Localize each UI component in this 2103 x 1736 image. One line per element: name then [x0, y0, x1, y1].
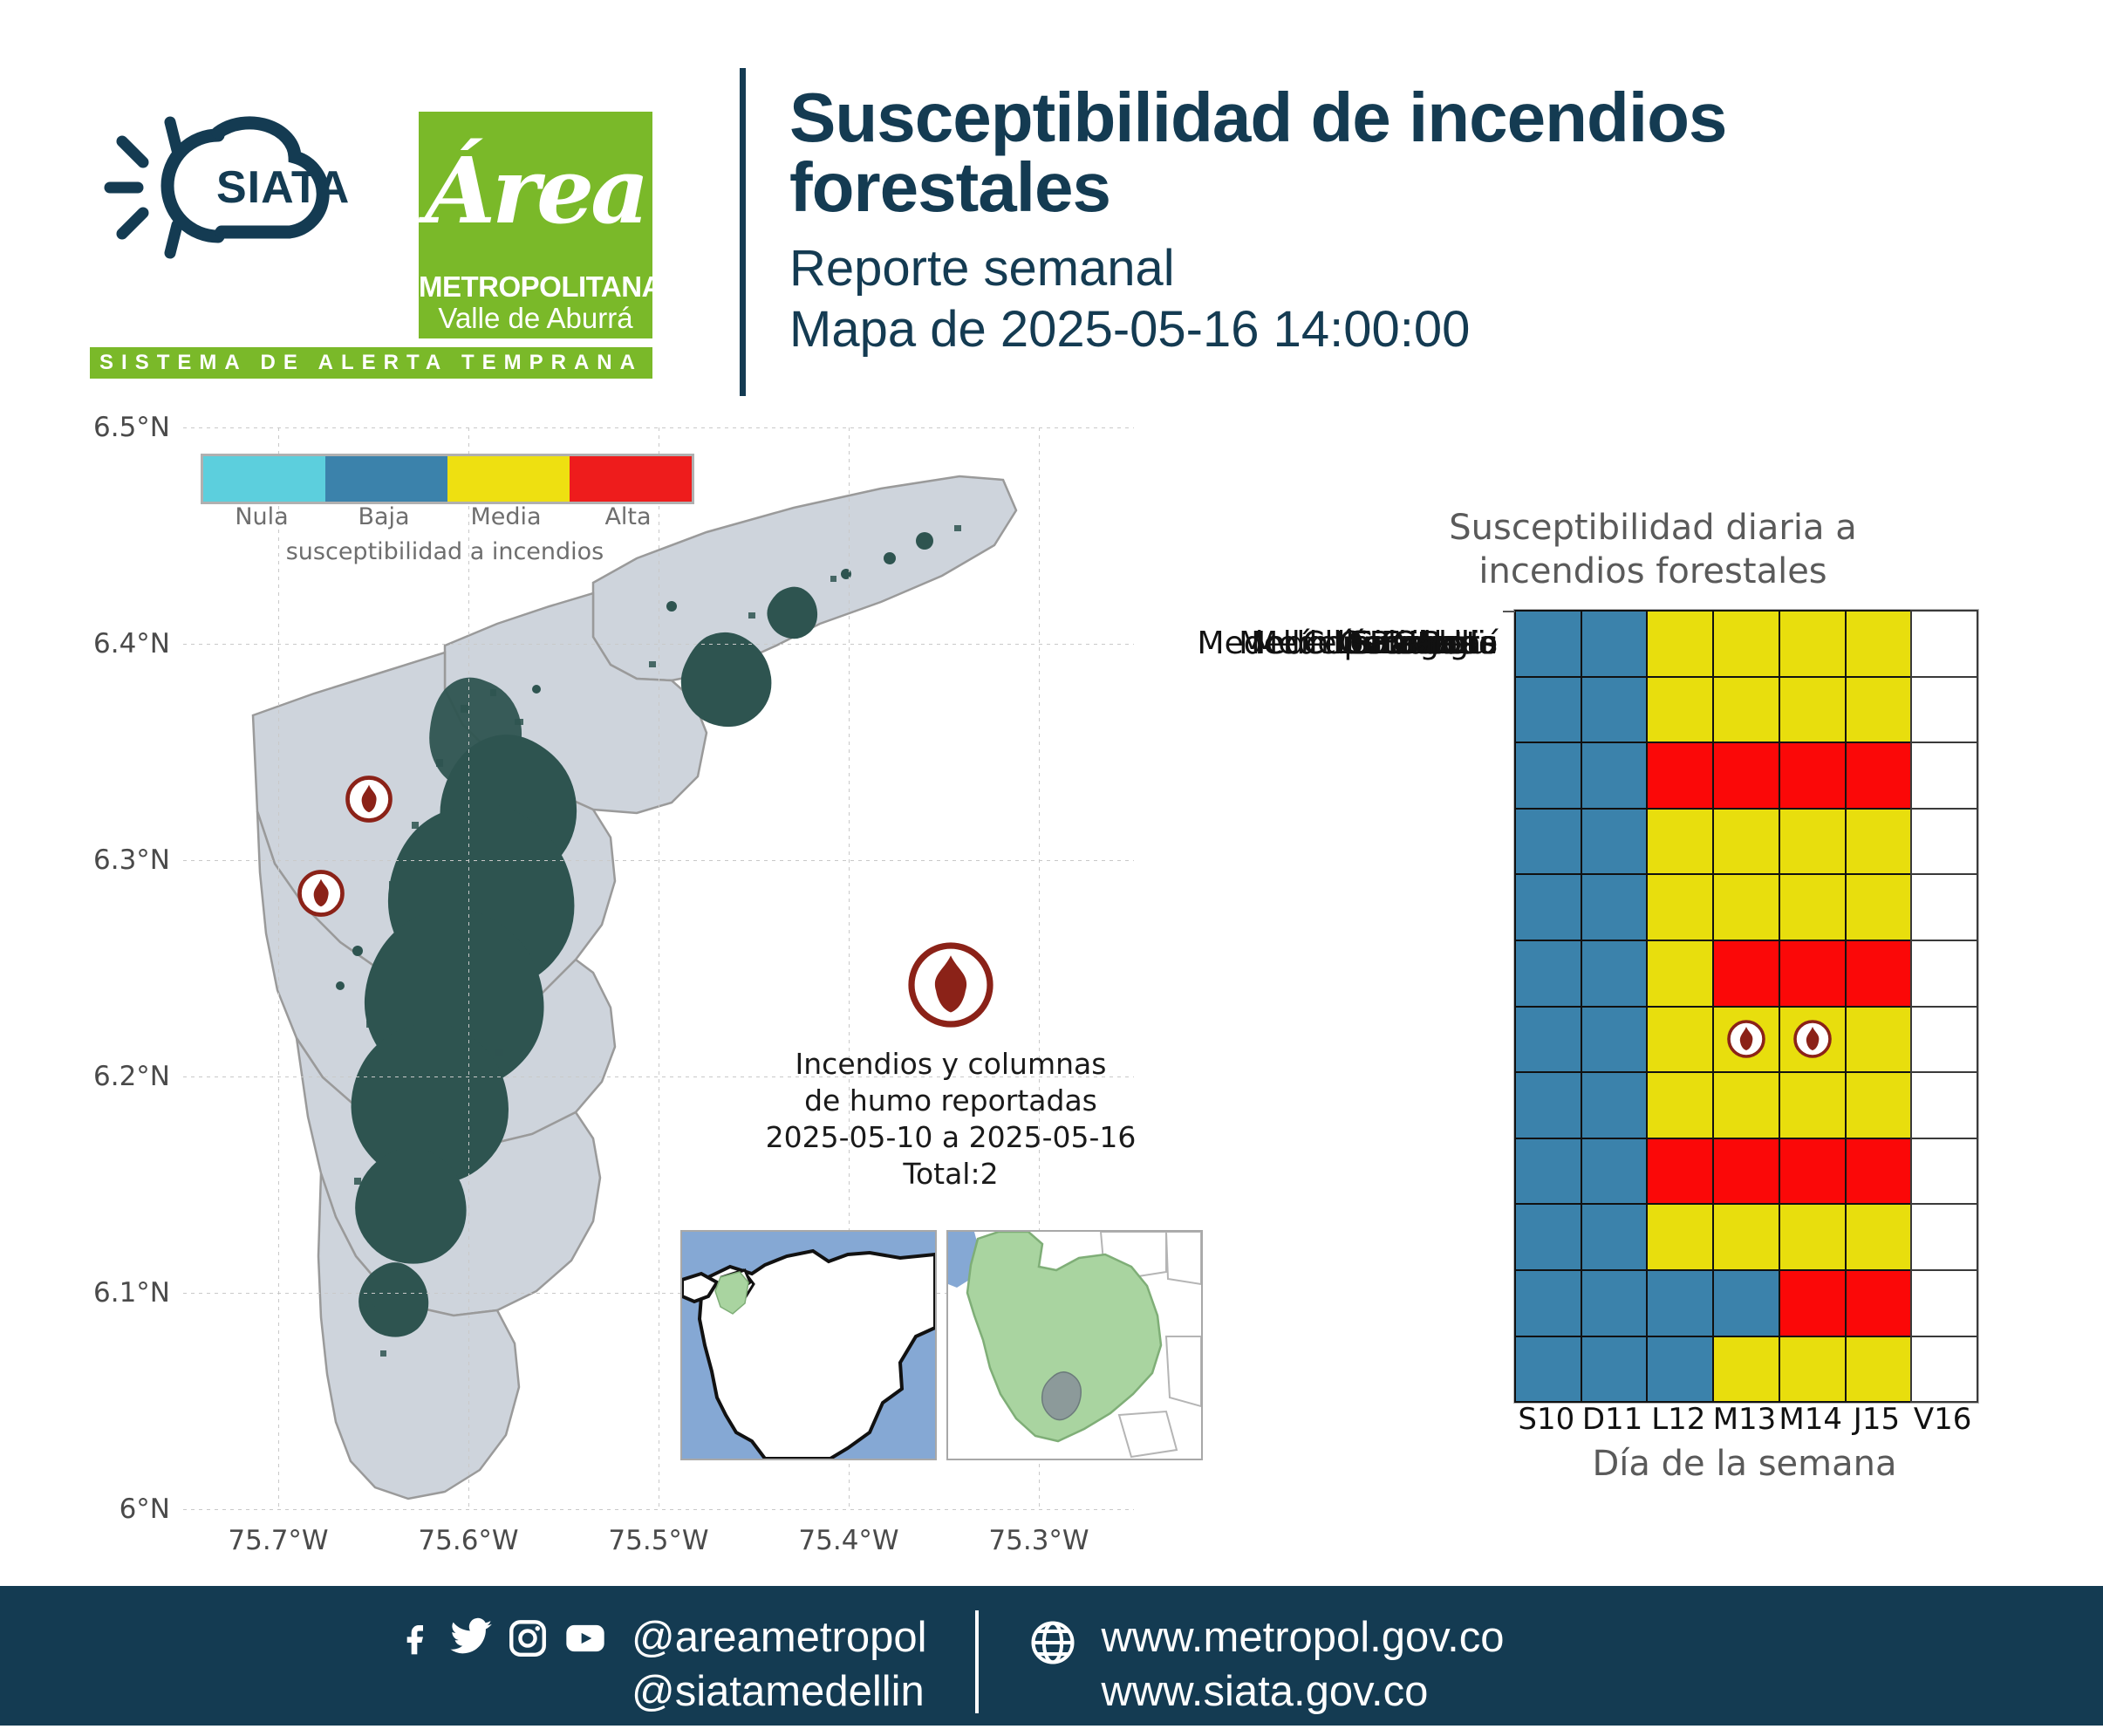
- colorbar-label-alta: Alta: [567, 503, 689, 530]
- map-y-tick-label: 6.4°N: [93, 628, 170, 660]
- heatmap-grid: BarbosaGirardotaCopacabanaBelloMedellín …: [1513, 609, 1979, 1404]
- area-metropolitana-logo: Área METROPOLITANA Valle de Aburrá: [419, 112, 652, 338]
- handle-areametropol: @areametropol: [632, 1610, 926, 1664]
- heatmap-cell[interactable]: [1845, 1071, 1913, 1139]
- heatmap-cell[interactable]: [1845, 1006, 1913, 1074]
- report-subtitle: Reporte semanal: [789, 238, 2054, 299]
- heatmap-cell[interactable]: [1514, 1138, 1582, 1206]
- siata-logo: SIATA: [87, 105, 384, 270]
- heatmap-row: Girardota: [1515, 677, 1977, 743]
- map-y-tick-label: 6.2°N: [93, 1061, 170, 1092]
- map-y-tick-label: 6°N: [119, 1493, 170, 1525]
- heatmap-cell[interactable]: [1581, 873, 1649, 941]
- infographic-root: SIATA Área METROPOLITANA Valle de Aburrá…: [0, 0, 2103, 1736]
- heatmap-cell[interactable]: [1910, 940, 1978, 1008]
- heatmap-cell[interactable]: [1779, 1269, 1847, 1337]
- heatmap-row: Itagüí: [1515, 1072, 1977, 1138]
- area-logo-script: Área: [419, 117, 652, 265]
- heatmap-cell[interactable]: [1581, 610, 1649, 678]
- heatmap-cell[interactable]: [1910, 808, 1978, 876]
- heatmap-cell[interactable]: [1514, 1006, 1582, 1074]
- heatmap-cell[interactable]: [1581, 1269, 1649, 1337]
- heatmap-cell[interactable]: [1910, 1006, 1978, 1074]
- heatmap-cell[interactable]: [1712, 1203, 1780, 1271]
- heatmap-y-tick: [1503, 611, 1515, 612]
- heatmap-row: Envigado: [1515, 1138, 1977, 1205]
- heatmap-cell[interactable]: [1581, 1006, 1649, 1074]
- page-title: Susceptibilidad de incendios forestales: [789, 83, 2054, 222]
- heatmap-x-tick-labels: S10D11L12M13M14J15V16: [1513, 1402, 1976, 1437]
- heatmap-cell[interactable]: [1845, 873, 1913, 941]
- heatmap-cell[interactable]: [1514, 610, 1582, 678]
- heatmap-cell[interactable]: [1779, 873, 1847, 941]
- heatmap-row: Medellín Occidente: [1515, 1007, 1977, 1073]
- heatmap-x-tick-label: M13: [1711, 1402, 1778, 1437]
- heatmap-cell[interactable]: [1712, 610, 1780, 678]
- heatmap-cell[interactable]: [1910, 873, 1978, 941]
- heatmap-cell[interactable]: [1779, 808, 1847, 876]
- fire-marker: [297, 869, 345, 921]
- heatmap-cell[interactable]: [1646, 742, 1714, 810]
- header: SIATA Área METROPOLITANA Valle de Aburrá…: [0, 0, 2103, 406]
- heatmap-cell[interactable]: [1646, 610, 1714, 678]
- heatmap-cell[interactable]: [1514, 1336, 1582, 1404]
- heatmap-cell[interactable]: [1514, 940, 1582, 1008]
- heatmap-row-label-caldas: Caldas: [1392, 611, 1515, 677]
- map-y-tick-label: 6.3°N: [93, 844, 170, 876]
- heatmap-cell[interactable]: [1581, 742, 1649, 810]
- heatmap-cell[interactable]: [1514, 1203, 1582, 1271]
- heatmap-cell[interactable]: [1646, 1269, 1714, 1337]
- map-gridline-vertical: [278, 427, 279, 1509]
- social-icons: [401, 1616, 609, 1664]
- colombia-inset-map: [680, 1230, 937, 1460]
- heatmap-cell[interactable]: [1910, 610, 1978, 678]
- heatmap-cell[interactable]: [1845, 940, 1913, 1008]
- fire-legend-total: Total:2: [724, 1156, 1178, 1193]
- heatmap-row: Caldas: [1515, 1336, 1977, 1403]
- title-block: Susceptibilidad de incendios forestales …: [789, 83, 2054, 360]
- map-x-tick-label: 75.5°W: [608, 1525, 708, 1556]
- heatmap-cell[interactable]: [1712, 1138, 1780, 1206]
- website-links: www.metropol.gov.co www.siata.gov.co: [1101, 1610, 1504, 1719]
- link-metropol[interactable]: www.metropol.gov.co: [1101, 1610, 1504, 1664]
- heatmap-cell[interactable]: [1712, 676, 1780, 744]
- map-y-tick-label: 6.5°N: [93, 412, 170, 443]
- heatmap-x-tick-label: L12: [1645, 1402, 1711, 1437]
- heatmap-cell[interactable]: [1581, 1138, 1649, 1206]
- heatmap-cell[interactable]: [1581, 808, 1649, 876]
- link-siata[interactable]: www.siata.gov.co: [1101, 1664, 1504, 1719]
- heatmap-cell[interactable]: [1646, 676, 1714, 744]
- header-divider: [740, 68, 746, 396]
- heatmap-cell[interactable]: [1910, 676, 1978, 744]
- heatmap-cell[interactable]: [1514, 676, 1582, 744]
- antioquia-inset-map: [946, 1230, 1203, 1460]
- heatmap-cell[interactable]: [1712, 808, 1780, 876]
- heatmap-cell[interactable]: [1712, 1269, 1780, 1337]
- heatmap-cell[interactable]: [1779, 742, 1847, 810]
- heatmap-cell[interactable]: [1581, 940, 1649, 1008]
- heatmap-cell[interactable]: [1779, 1203, 1847, 1271]
- map-panel: 6.5°N6.4°N6.3°N6.2°N6.1°N6°N75.7°W75.6°W…: [35, 406, 1212, 1583]
- heatmap-cell[interactable]: [1646, 940, 1714, 1008]
- fire-legend-line1: Incendios y columnas: [724, 1046, 1178, 1083]
- map-gridline-vertical: [659, 427, 659, 1509]
- globe-icon: [1028, 1617, 1078, 1671]
- heatmap-cell[interactable]: [1514, 873, 1582, 941]
- fire-legend-line3: 2025-05-10 a 2025-05-16: [724, 1119, 1178, 1156]
- heatmap-cell[interactable]: [1779, 676, 1847, 744]
- colorbar-segment-nula: [203, 456, 325, 502]
- heatmap-cell[interactable]: [1910, 1203, 1978, 1271]
- heatmap-cell[interactable]: [1845, 808, 1913, 876]
- heatmap-cell[interactable]: [1581, 1071, 1649, 1139]
- footer-bottom-strip: [0, 1726, 2103, 1736]
- heatmap-cell[interactable]: [1845, 1203, 1913, 1271]
- fire-icon-large: [904, 938, 998, 1032]
- heatmap-cell[interactable]: [1514, 742, 1582, 810]
- footer-divider: [975, 1610, 979, 1713]
- heatmap-cell[interactable]: [1845, 1138, 1913, 1206]
- heatmap-cell[interactable]: [1646, 1071, 1714, 1139]
- heatmap-cell[interactable]: [1646, 1203, 1714, 1271]
- map-x-tick-label: 75.4°W: [798, 1525, 898, 1556]
- map-x-tick-label: 75.6°W: [418, 1525, 518, 1556]
- fire-legend-line2: de humo reportadas: [724, 1083, 1178, 1119]
- heatmap-row: Copacabana: [1515, 742, 1977, 809]
- heatmap-cell[interactable]: [1581, 1336, 1649, 1404]
- map-x-tick-label: 75.7°W: [228, 1525, 328, 1556]
- heatmap-x-tick-label: D11: [1580, 1402, 1646, 1437]
- footer: @areametropol @siatamedellin www.metropo…: [0, 1586, 2103, 1736]
- heatmap-cell[interactable]: [1910, 1269, 1978, 1337]
- colorbar-label-baja: Baja: [323, 503, 445, 530]
- heatmap-cell[interactable]: [1779, 1138, 1847, 1206]
- heatmap-row: Medellín Centro: [1515, 874, 1977, 940]
- heatmap-cell[interactable]: [1845, 1269, 1913, 1337]
- instagram-icon[interactable]: [506, 1616, 550, 1664]
- heatmap-cell[interactable]: [1845, 676, 1913, 744]
- colorbar-segment-baja: [325, 456, 447, 502]
- map-timestamp: Mapa de 2025-05-16 14:00:00: [789, 299, 2054, 360]
- fire-marker: [345, 775, 393, 827]
- heatmap-title: Susceptibilidad diaria aincendios forest…: [1221, 506, 2085, 593]
- heatmap-cell[interactable]: [1712, 1006, 1780, 1074]
- heatmap-cell[interactable]: [1514, 808, 1582, 876]
- colorbar-caption: susceptibilidad a incendios: [201, 538, 689, 565]
- heatmap-row: Barbosa: [1515, 611, 1977, 677]
- heatmap-cell[interactable]: [1779, 610, 1847, 678]
- heatmap-cell[interactable]: [1581, 676, 1649, 744]
- heatmap-cell[interactable]: [1712, 742, 1780, 810]
- map-gridline-horizontal: [183, 1509, 1134, 1510]
- siata-logo-text: SIATA: [216, 162, 350, 213]
- heatmap-cell[interactable]: [1779, 1336, 1847, 1404]
- colorbar-tick-labels: NulaBajaMediaAlta: [201, 503, 689, 530]
- heatmap-row: Bello: [1515, 809, 1977, 875]
- area-logo-line1: METROPOLITANA: [419, 270, 652, 304]
- siata-tagline-text: SISTEMA DE ALERTA TEMPRANA: [90, 347, 652, 379]
- heatmap-cell[interactable]: [1646, 1138, 1714, 1206]
- area-logo-line2: Valle de Aburrá: [419, 302, 652, 335]
- colorbar-label-nula: Nula: [201, 503, 323, 530]
- heatmap-cell[interactable]: [1845, 742, 1913, 810]
- heatmap-cell[interactable]: [1845, 1336, 1913, 1404]
- map-x-tick-label: 75.3°W: [988, 1525, 1089, 1556]
- heatmap-x-tick-label: M14: [1778, 1402, 1844, 1437]
- heatmap-cell[interactable]: [1581, 1203, 1649, 1271]
- heatmap-cell[interactable]: [1910, 1071, 1978, 1139]
- heatmap-cell[interactable]: [1845, 610, 1913, 678]
- heatmap-row: Medellín Oriente: [1515, 940, 1977, 1007]
- susceptibility-colorbar: [201, 454, 694, 504]
- fire-report-legend: Incendios y columnas de humo reportadas …: [724, 938, 1178, 1193]
- heatmap-cell[interactable]: [1646, 1336, 1714, 1404]
- map-gridline-vertical: [468, 427, 469, 1509]
- heatmap-cell[interactable]: [1646, 873, 1714, 941]
- heatmap-cell[interactable]: [1712, 1071, 1780, 1139]
- heatmap-cell[interactable]: [1779, 1006, 1847, 1074]
- heatmap-x-tick-label: S10: [1513, 1402, 1580, 1437]
- fire-marker-icon: [1792, 1018, 1833, 1060]
- colorbar-segment-media: [447, 456, 570, 502]
- heatmap-x-tick-label: J15: [1844, 1402, 1910, 1437]
- heatmap-cell[interactable]: [1646, 1006, 1714, 1074]
- heatmap-x-tick-label: V16: [1909, 1402, 1976, 1437]
- heatmap-cell[interactable]: [1910, 1336, 1978, 1404]
- youtube-icon[interactable]: [562, 1616, 609, 1664]
- heatmap-cell[interactable]: [1712, 873, 1780, 941]
- heatmap-cell[interactable]: [1712, 1336, 1780, 1404]
- heatmap-x-axis-title: Día de la semana: [1513, 1444, 1976, 1484]
- fire-marker-icon: [1725, 1018, 1767, 1060]
- heatmap-row: Sabaneta: [1515, 1270, 1977, 1336]
- social-handles: @areametropol @siatamedellin: [632, 1610, 926, 1719]
- colorbar-label-media: Media: [445, 503, 567, 530]
- heatmap-cell[interactable]: [1514, 1071, 1582, 1139]
- heatmap-cell[interactable]: [1514, 1269, 1582, 1337]
- daily-susceptibility-heatmap-panel: Susceptibilidad diaria aincendios forest…: [1221, 506, 2085, 1518]
- heatmap-row: La Estrella: [1515, 1204, 1977, 1270]
- heatmap-cell[interactable]: [1910, 742, 1978, 810]
- heatmap-cell[interactable]: [1910, 1138, 1978, 1206]
- colorbar-segment-alta: [570, 456, 692, 502]
- heatmap-cell[interactable]: [1779, 1071, 1847, 1139]
- map-y-tick-label: 6.1°N: [93, 1277, 170, 1309]
- siata-tagline-bar: SISTEMA DE ALERTA TEMPRANA: [90, 347, 652, 379]
- heatmap-cell[interactable]: [1779, 940, 1847, 1008]
- twitter-icon[interactable]: [448, 1616, 494, 1664]
- heatmap-cell[interactable]: [1712, 940, 1780, 1008]
- facebook-icon[interactable]: [401, 1616, 436, 1664]
- heatmap-cell[interactable]: [1646, 808, 1714, 876]
- handle-siatamedellin: @siatamedellin: [632, 1664, 926, 1719]
